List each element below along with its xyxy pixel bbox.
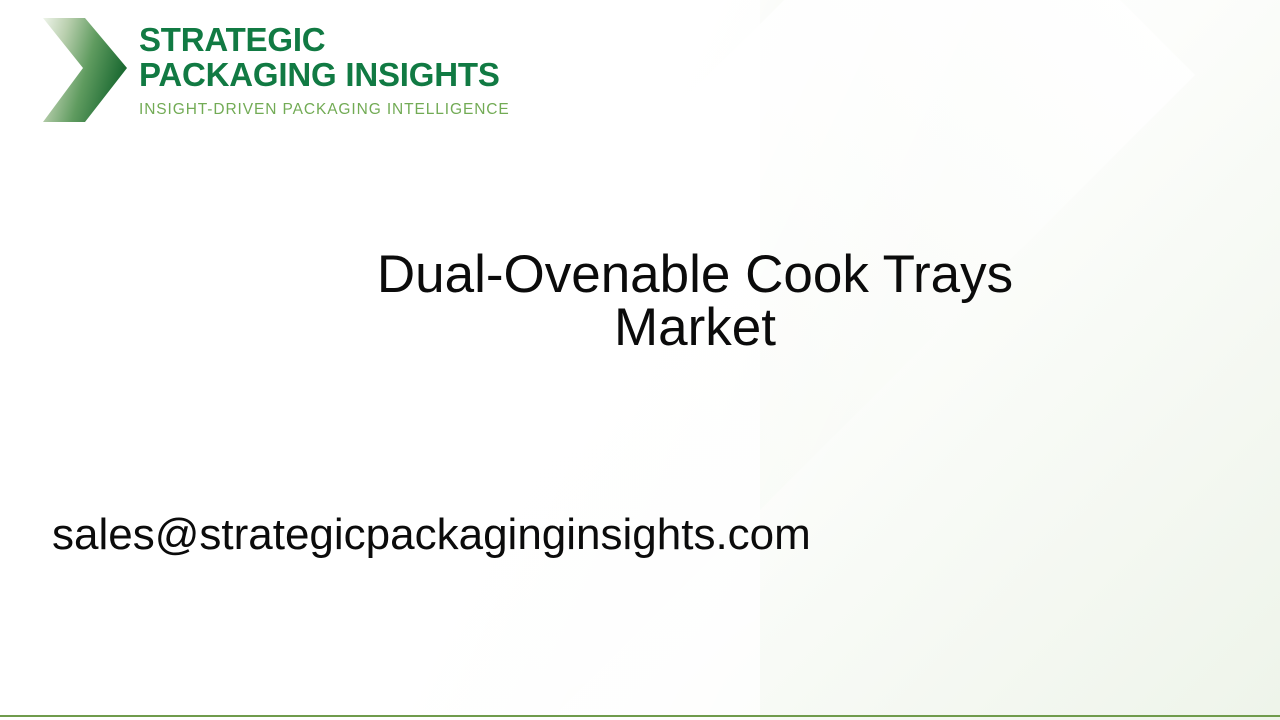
logo-tagline: INSIGHT-DRIVEN PACKAGING INTELLIGENCE bbox=[139, 101, 510, 118]
title-slide: STRATEGIC PACKAGING INSIGHTS INSIGHT-DRI… bbox=[0, 0, 1280, 720]
company-logo: STRATEGIC PACKAGING INSIGHTS INSIGHT-DRI… bbox=[33, 8, 540, 132]
contact-email: sales@strategicpackaginginsights.com bbox=[52, 513, 1052, 557]
logo-wordmark: STRATEGIC PACKAGING INSIGHTS INSIGHT-DRI… bbox=[139, 22, 510, 118]
chevron-right-icon bbox=[39, 14, 131, 126]
logo-line-2: PACKAGING INSIGHTS bbox=[139, 57, 510, 92]
logo-line-1: STRATEGIC bbox=[139, 22, 510, 57]
page-title: Dual-Ovenable Cook Trays Market bbox=[290, 248, 1100, 354]
bottom-rule bbox=[0, 715, 1280, 717]
